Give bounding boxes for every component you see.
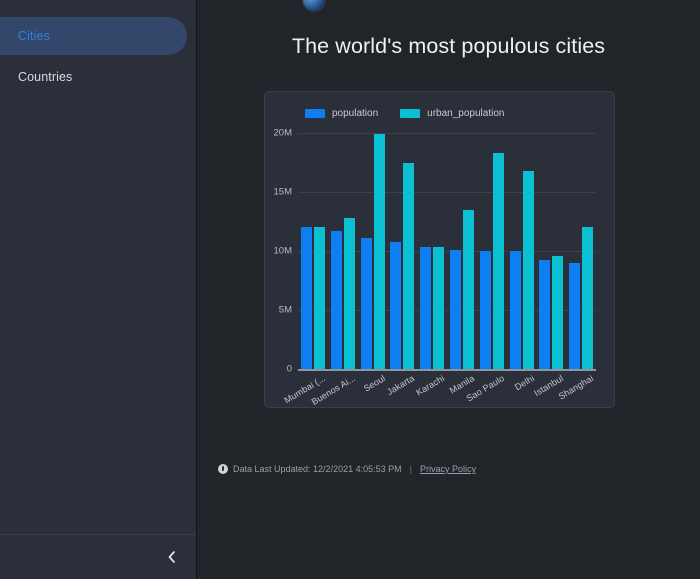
y-axis-tick-label: 10M bbox=[252, 246, 292, 257]
chart-bar[interactable] bbox=[523, 171, 534, 369]
app-root: CitiesCountries The world's most populou… bbox=[0, 0, 700, 579]
x-axis-tick-label: Seoul bbox=[361, 373, 386, 394]
chart-bar[interactable] bbox=[403, 163, 414, 370]
chart-panel: populationurban_population 05M10M15M20MM… bbox=[264, 91, 615, 408]
sidebar-item-label: Countries bbox=[18, 70, 72, 84]
data-last-updated-text: Data Last Updated: 12/2/2021 4:05:53 PM bbox=[233, 464, 402, 474]
chart-bar[interactable] bbox=[314, 227, 325, 369]
y-axis-tick-label: 0 bbox=[252, 364, 292, 375]
chart-plot-area: 05M10M15M20MMumbai (...Buenos Ai...Seoul… bbox=[265, 92, 616, 409]
chart-bar[interactable] bbox=[539, 260, 550, 369]
chart-bar[interactable] bbox=[450, 250, 461, 369]
chart-bar[interactable] bbox=[552, 256, 563, 369]
chart-bar[interactable] bbox=[390, 242, 401, 369]
chart-gridline bbox=[298, 133, 596, 134]
chart-bar[interactable] bbox=[361, 238, 372, 369]
chart-bar[interactable] bbox=[374, 134, 385, 369]
y-axis-tick-label: 5M bbox=[252, 305, 292, 316]
footer: Data Last Updated: 12/2/2021 4:05:53 PM … bbox=[218, 464, 476, 474]
chart-bar[interactable] bbox=[420, 247, 431, 369]
chart-bar[interactable] bbox=[344, 218, 355, 369]
sidebar-item-label: Cities bbox=[18, 29, 50, 43]
page-title: The world's most populous cities bbox=[197, 34, 700, 59]
sidebar-spacer bbox=[0, 96, 196, 534]
x-axis-tick-label: Jakarta bbox=[385, 373, 416, 397]
footer-separator: | bbox=[410, 464, 412, 474]
chart-bar[interactable] bbox=[463, 210, 474, 369]
privacy-policy-link[interactable]: Privacy Policy bbox=[420, 464, 476, 474]
sidebar-item-cities[interactable]: Cities bbox=[0, 17, 187, 55]
chart-gridline bbox=[298, 192, 596, 193]
chart-bar[interactable] bbox=[493, 153, 504, 369]
sidebar: CitiesCountries bbox=[0, 0, 197, 579]
sidebar-item-countries[interactable]: Countries bbox=[0, 58, 187, 96]
y-axis-tick-label: 15M bbox=[252, 187, 292, 198]
chart-bar[interactable] bbox=[569, 263, 580, 369]
info-circle-icon bbox=[218, 464, 228, 474]
chart-bar[interactable] bbox=[331, 231, 342, 369]
chevron-left-icon bbox=[165, 550, 179, 564]
chart-bar[interactable] bbox=[301, 227, 312, 369]
chart-gridline bbox=[298, 251, 596, 252]
x-axis-tick-label: Karachi bbox=[414, 373, 446, 398]
chart-gridline bbox=[298, 310, 596, 311]
sidebar-nav-list: CitiesCountries bbox=[0, 0, 196, 96]
y-axis-tick-label: 20M bbox=[252, 128, 292, 139]
chart-bar[interactable] bbox=[433, 247, 444, 369]
x-axis-line bbox=[298, 369, 596, 371]
globe-icon bbox=[303, 0, 325, 11]
chart-bar[interactable] bbox=[480, 251, 491, 369]
chart-bar[interactable] bbox=[582, 227, 593, 369]
sidebar-collapse-button[interactable] bbox=[0, 534, 196, 579]
chart-bar[interactable] bbox=[510, 251, 521, 369]
main-content: The world's most populous cities populat… bbox=[197, 0, 700, 579]
